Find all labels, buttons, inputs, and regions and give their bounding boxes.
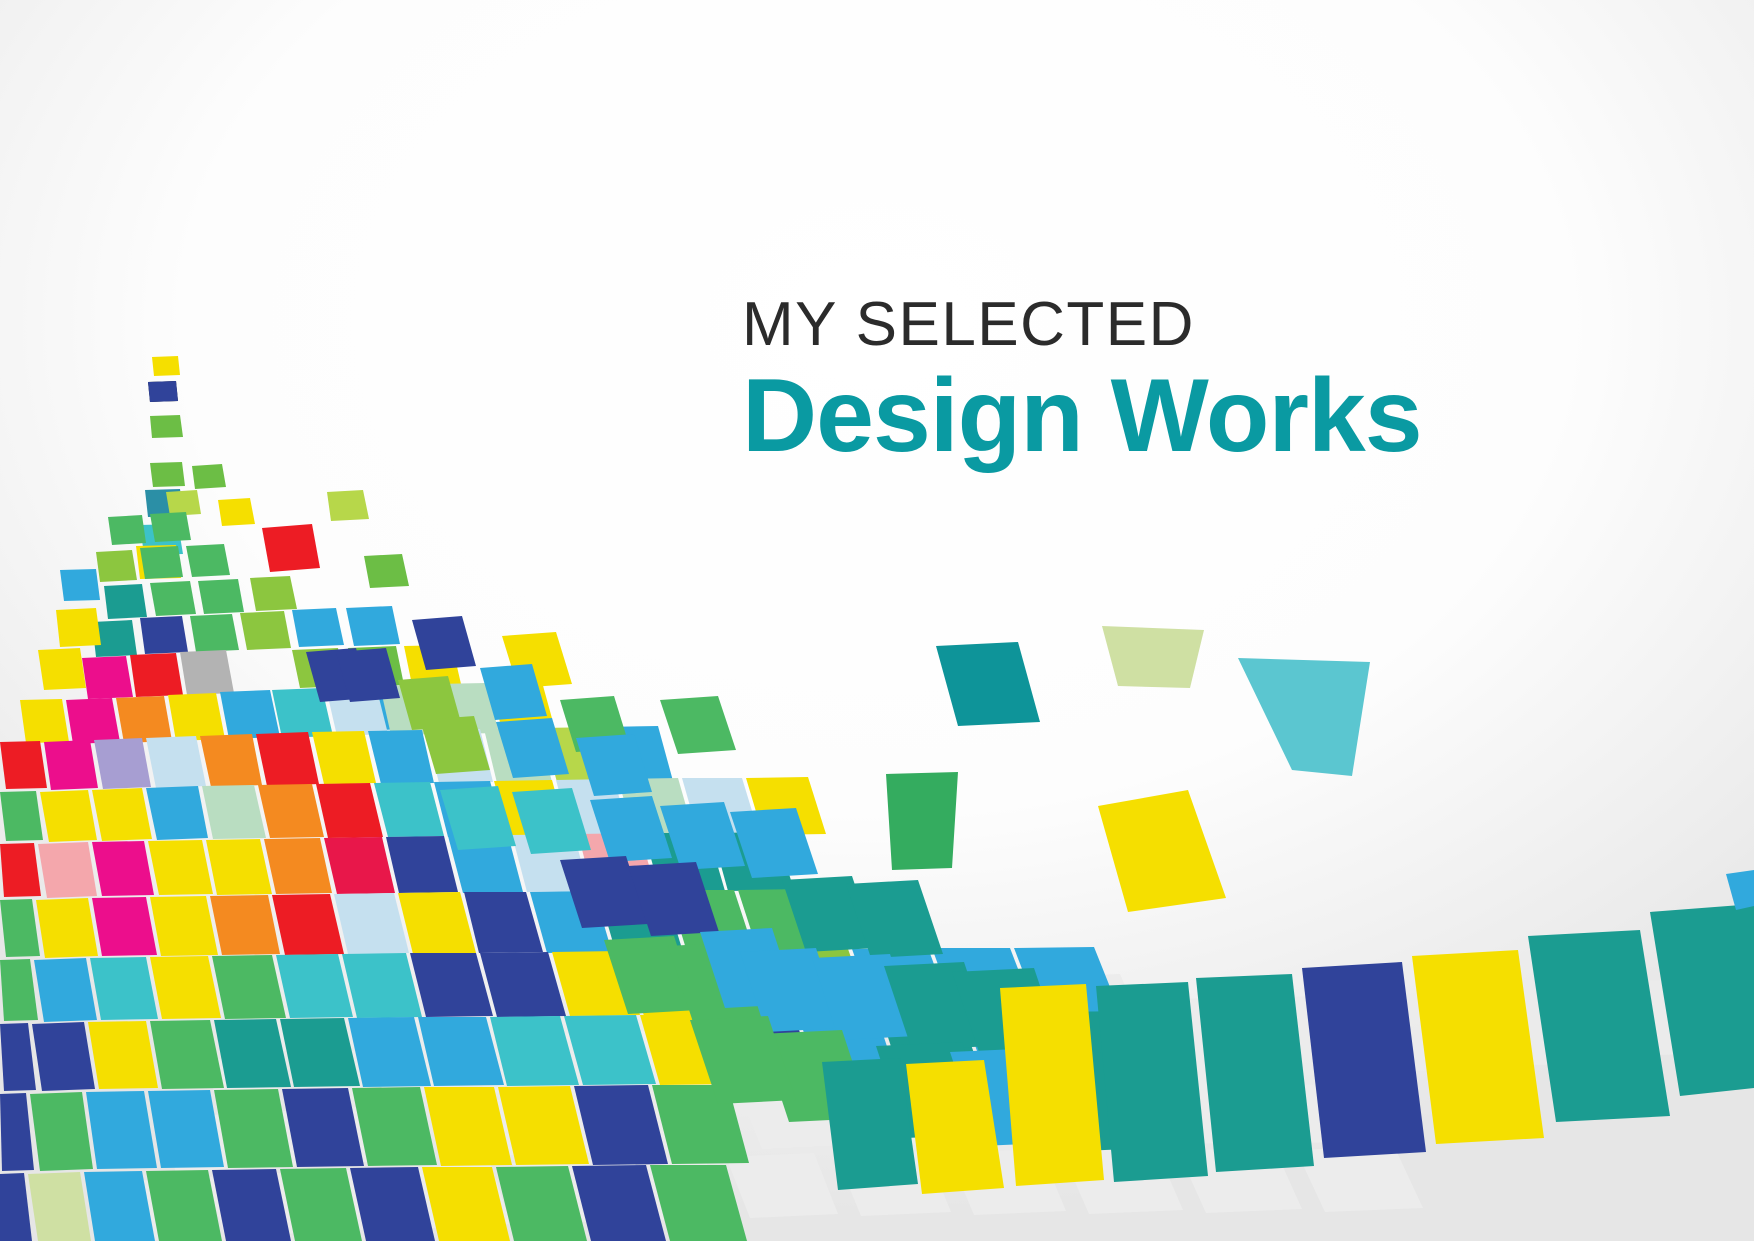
kicker-text: MY SELECTED [742,294,1502,356]
accent-tile-palegreen [1102,626,1204,688]
title-block: MY SELECTED Design Works [742,294,1502,471]
headline-text: Design Works [742,362,1502,471]
poster-canvas: MY SELECTED Design Works [0,0,1754,1241]
accent-tile-green [886,772,958,870]
mosaic-wave-graphic [0,0,1754,1241]
